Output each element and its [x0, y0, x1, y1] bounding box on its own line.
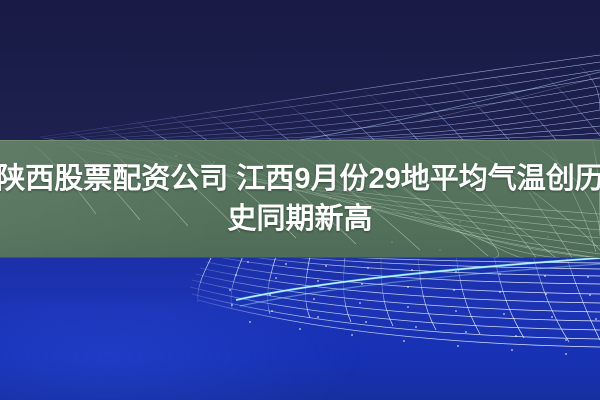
banner-image: 陕西股票配资公司 江西9月份29地平均气温创历 史同期新高 — [0, 0, 600, 400]
band-top-edge — [0, 140, 600, 141]
band-bottom-edge — [0, 257, 600, 258]
green-banner-band — [0, 140, 600, 258]
